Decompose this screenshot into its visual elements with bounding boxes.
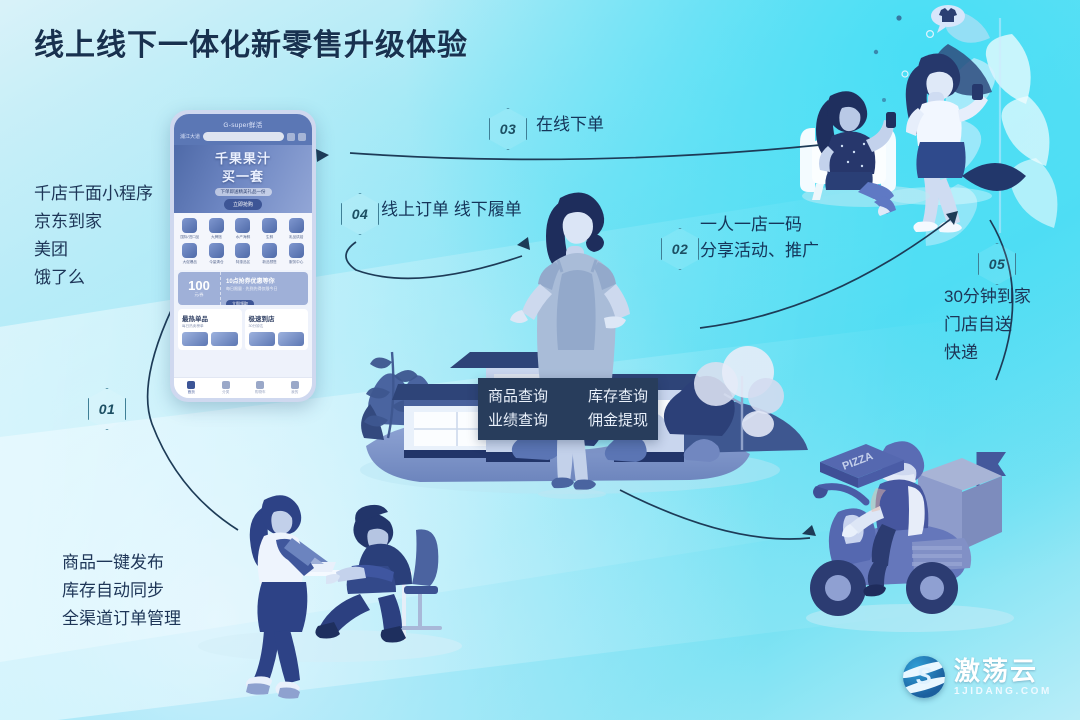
logo-letter: S [916, 664, 932, 690]
message-icon[interactable] [298, 133, 306, 141]
location-label[interactable]: 浦江大道 [180, 133, 200, 140]
arrow-store-to-scooter-path [620, 490, 810, 539]
category-icon [209, 243, 224, 258]
illustration-tree-right [694, 346, 784, 450]
section-card[interactable]: 极速到店30分钟达 [245, 309, 309, 350]
coupon-amount-block: 100 元/券 [178, 272, 221, 305]
coupon-unit: 元/券 [194, 292, 203, 298]
tab-label: 购物车 [255, 390, 266, 395]
category-icon [182, 218, 197, 233]
brand-logo: S 激荡云 1JIDANG.COM [903, 656, 1052, 698]
step-badge-04: 04 [341, 193, 379, 235]
app-header: G-super鲜活 浦江大道 [174, 114, 312, 145]
tab-icon [187, 381, 195, 389]
phone-tab-0[interactable]: 首页 [174, 378, 209, 398]
illustration-woman-standing [884, 54, 992, 233]
category-item[interactable]: 新品预售 [258, 243, 282, 265]
arrow-03-path [350, 145, 820, 159]
product-bubble-icon [931, 5, 965, 33]
banner-cta-button[interactable]: 立即抢购 [224, 199, 262, 210]
step-label-02: 一人一店一码 分享活动、推广 [700, 212, 819, 264]
category-icon [289, 243, 304, 258]
pizza-box: PIZZA [820, 444, 904, 488]
product-thumb [211, 332, 237, 346]
step-badge-01: 01 [88, 388, 126, 430]
scan-icon[interactable] [287, 133, 295, 141]
category-item[interactable]: 国际/进口品 [178, 218, 202, 240]
tab-label: 分类 [222, 390, 229, 395]
logo-name-en: 1JIDANG.COM [954, 687, 1052, 697]
info-cell: 佣金提现 [588, 409, 648, 433]
category-label: 特惠品区 [236, 260, 250, 265]
promo-banner[interactable]: 千果果汁 买一套 下单即送精美礼品一份 立即抢购 [174, 145, 312, 213]
info-cell: 业绩查询 [488, 409, 548, 433]
search-input[interactable] [203, 132, 284, 141]
tab-label: 首页 [188, 390, 195, 395]
step-badge-05: 05 [978, 243, 1016, 285]
category-icon [262, 243, 277, 258]
product-thumb [249, 332, 275, 346]
info-cell: 商品查询 [488, 385, 548, 409]
step-badge-02: 02 [661, 228, 699, 270]
category-icon [262, 218, 277, 233]
tab-icon [256, 381, 264, 389]
app-title: G-super鲜活 [180, 119, 306, 129]
product-thumbs [182, 332, 238, 346]
logo-name-cn: 激荡云 [954, 658, 1052, 684]
page-title: 线上线下一体化新零售升级体验 [34, 20, 468, 64]
illustration-woman-armchair [800, 91, 930, 216]
step-label-03: 在线下单 [536, 112, 604, 138]
arrow-04-head [517, 237, 530, 250]
coupon-amount: 100 [188, 279, 210, 292]
category-grid: 国际/进口品大牌馆水产海鲜生鲜乳品烘焙大促爆品今量清仓特惠品区新品预售服务中心 [174, 213, 312, 270]
category-item[interactable]: 大促爆品 [178, 243, 202, 265]
category-icon [289, 218, 304, 233]
illustration-office-scene [198, 495, 462, 698]
phone-mockup: G-super鲜活 浦江大道 千果果汁 买一套 下单即送精美礼品一份 立即抢购 … [170, 110, 316, 402]
category-icon [182, 243, 197, 258]
infographic-canvas: PIZZA 线上线下一体化新零售升级体验 千店千面小程序 京东到家 [0, 0, 1080, 720]
step-number: 01 [99, 401, 116, 417]
coupon-card[interactable]: 100 元/券 10点抢券优惠等你 每日限量 · 先到先得仅限今日 立即领取 [178, 272, 308, 305]
left-features-text: 商品一键发布 库存自动同步 全渠道订单管理 [62, 549, 181, 633]
info-cell: 库存查询 [588, 385, 648, 409]
category-item[interactable]: 今量清仓 [205, 243, 229, 265]
phone-tab-2[interactable]: 购物车 [243, 378, 278, 398]
coupon-detail-block: 10点抢券优惠等你 每日限量 · 先到先得仅限今日 立即领取 [221, 272, 308, 305]
arrow-04-path [346, 242, 522, 278]
coupon-sub: 每日限量 · 先到先得仅限今日 [226, 286, 303, 292]
product-thumb [182, 332, 208, 346]
step-number: 02 [672, 241, 689, 257]
phone-screen: G-super鲜活 浦江大道 千果果汁 买一套 下单即送精美礼品一份 立即抢购 … [174, 114, 312, 398]
svg-text:PIZZA: PIZZA [841, 450, 875, 473]
category-item[interactable]: 大牌馆 [205, 218, 229, 240]
decorative-dark-leaf [962, 163, 1026, 191]
coupon-title: 10点抢券优惠等你 [226, 276, 303, 285]
section-title: 最热单品 [182, 313, 238, 323]
category-item[interactable]: 服务中心 [284, 243, 308, 265]
illustration-delivery-scooter: PIZZA [806, 441, 1014, 632]
section-card[interactable]: 最热单品每日热卖榜单 [178, 309, 242, 350]
arrow-store-to-scooter-head [802, 525, 816, 536]
delivery-options-text: 30分钟到家 门店自送 快递 [944, 283, 1031, 367]
tab-label: 我的 [291, 390, 298, 395]
store-info-panel: 商品查询 库存查询 业绩查询 佣金提现 [478, 378, 658, 440]
product-thumbs [249, 332, 305, 346]
info-row: 业绩查询 佣金提现 [488, 409, 648, 433]
banner-subtext: 下单即送精美礼品一份 [215, 188, 272, 196]
category-label: 今量清仓 [209, 260, 223, 265]
step-badge-03: 03 [489, 108, 527, 150]
app-search-row: 浦江大道 [180, 132, 306, 141]
tab-icon [291, 381, 299, 389]
phone-tab-1[interactable]: 分类 [209, 378, 244, 398]
section-sub: 30分钟达 [249, 324, 305, 329]
category-item[interactable]: 乳品烘焙 [284, 218, 308, 240]
category-item[interactable]: 特惠品区 [231, 243, 255, 265]
category-icon [209, 218, 224, 233]
category-label: 乳品烘焙 [289, 235, 303, 240]
category-item[interactable]: 生鲜 [258, 218, 282, 240]
category-icon [235, 218, 250, 233]
logo-mark-icon: S [903, 656, 945, 698]
coupon-claim-button[interactable]: 立即领取 [226, 300, 254, 305]
category-label: 水产海鲜 [236, 235, 250, 240]
step-number: 05 [989, 256, 1006, 272]
banner-line-2: 买一套 [222, 166, 264, 185]
section-sub: 每日热卖榜单 [182, 324, 238, 329]
category-item[interactable]: 水产海鲜 [231, 218, 255, 240]
arrow-02-head [946, 211, 958, 225]
illustration-shopkeeper [510, 193, 630, 499]
category-label: 新品预售 [262, 260, 276, 265]
section-title: 极速到店 [249, 313, 305, 323]
category-label: 大促爆品 [183, 260, 197, 265]
category-label: 生鲜 [266, 235, 273, 240]
tab-icon [222, 381, 230, 389]
category-label: 服务中心 [289, 260, 303, 265]
arrow-03-head [316, 149, 329, 162]
decorative-leaves [874, 10, 1058, 246]
info-row: 商品查询 库存查询 [488, 385, 648, 409]
phone-tab-3[interactable]: 我的 [278, 378, 313, 398]
category-label: 国际/进口品 [180, 235, 199, 240]
step-label-04: 线上订单 线下履单 [381, 197, 522, 223]
left-channels-text: 千店千面小程序 京东到家 美团 饿了么 [34, 180, 153, 292]
step-number: 03 [500, 121, 517, 137]
category-label: 大牌馆 [211, 235, 222, 240]
product-thumb [278, 332, 304, 346]
step-number: 04 [352, 206, 369, 222]
bottom-tab-bar: 首页分类购物车我的 [174, 377, 312, 398]
banner-line-1: 千果果汁 [215, 148, 271, 167]
logo-words: 激荡云 1JIDANG.COM [954, 658, 1052, 697]
section-row: 最热单品每日热卖榜单极速到店30分钟达 [178, 309, 308, 350]
category-icon [235, 243, 250, 258]
